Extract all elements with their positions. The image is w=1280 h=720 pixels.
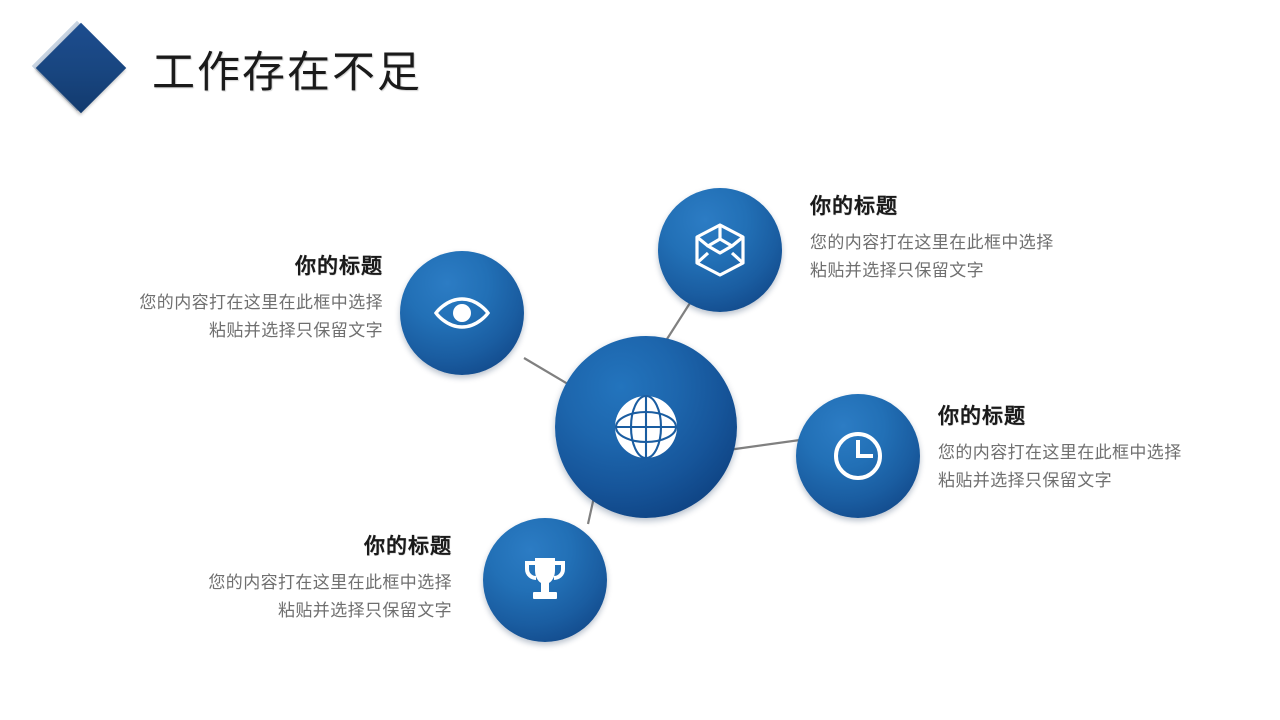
cube-wireframe-icon [694,222,746,278]
connector-center-to-clock [728,440,800,450]
clock-icon [831,429,885,483]
node-trophy[interactable] [483,518,607,642]
trophy-icon [519,555,571,605]
slide-canvas: 工作存在不足 [0,0,1280,720]
callout-body: 您的内容打在这里在此框中选择 粘贴并选择只保留文字 [40,289,383,344]
callout-body: 您的内容打在这里在此框中选择 粘贴并选择只保留文字 [110,569,452,624]
callout-cube: 你的标题 您的内容打在这里在此框中选择 粘贴并选择只保留文字 [810,190,1160,284]
callout-title: 你的标题 [938,400,1268,430]
node-cube[interactable] [658,188,782,312]
callout-title: 你的标题 [810,190,1160,220]
callout-trophy: 你的标题 您的内容打在这里在此框中选择 粘贴并选择只保留文字 [110,530,452,624]
callout-body: 您的内容打在这里在此框中选择 粘贴并选择只保留文字 [938,439,1268,494]
callout-title: 你的标题 [110,530,452,560]
node-eye[interactable] [400,251,524,375]
node-clock[interactable] [796,394,920,518]
globe-icon [608,389,684,465]
callout-body: 您的内容打在这里在此框中选择 粘贴并选择只保留文字 [810,229,1160,284]
center-node-globe[interactable] [555,336,737,518]
callout-eye: 你的标题 您的内容打在这里在此框中选择 粘贴并选择只保留文字 [40,250,383,344]
callout-title: 你的标题 [40,250,383,280]
eye-icon [433,293,491,333]
callout-clock: 你的标题 您的内容打在这里在此框中选择 粘贴并选择只保留文字 [938,400,1268,494]
